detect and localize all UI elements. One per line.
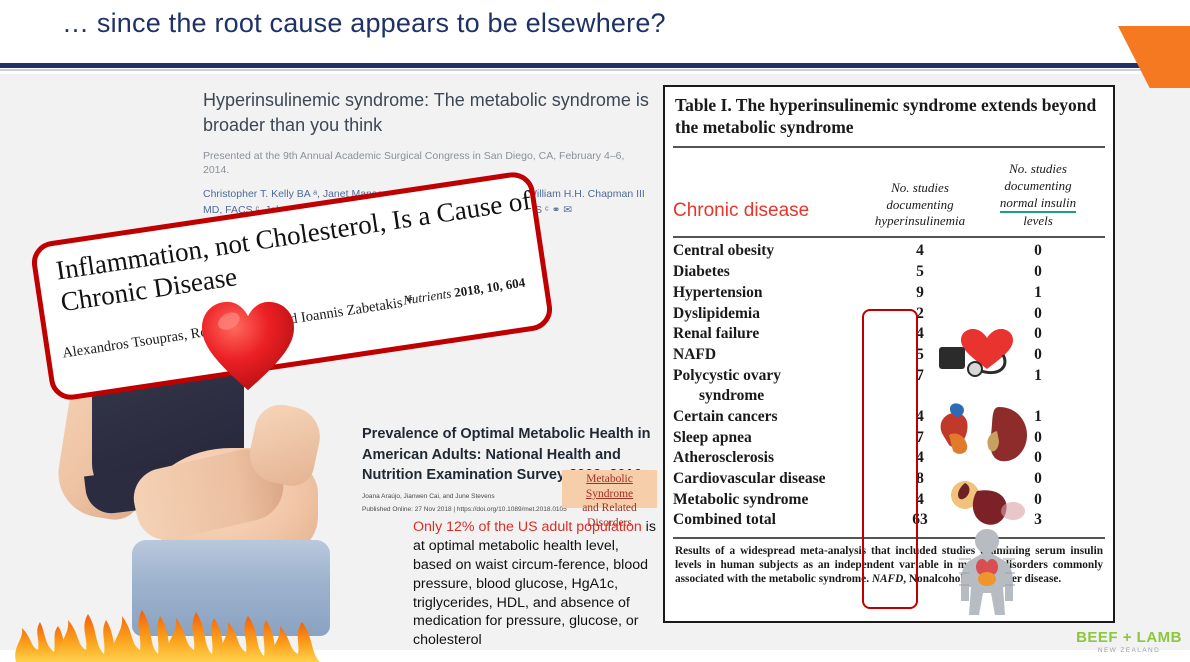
table-row: Dyslipidemia20 xyxy=(673,303,1105,324)
table-cell-hyperinsulinemia: 4 xyxy=(861,489,979,510)
table-cell-disease: Certain cancers xyxy=(673,406,861,427)
page-title: … since the root cause appears to be els… xyxy=(62,8,666,39)
table-cell-hyperinsulinemia: 7 xyxy=(861,365,979,386)
table-cell-normal-insulin: 0 xyxy=(979,241,1097,262)
callout-citation: Nutrients 2018, 10, 604 xyxy=(402,275,526,309)
beef-lamb-logo: BEEF + LAMB NEW ZEALAND xyxy=(1076,629,1182,654)
table-cell-normal-insulin: 0 xyxy=(979,448,1097,469)
table-cell-normal-insulin: 1 xyxy=(979,365,1097,386)
table-cell-hyperinsulinemia: 5 xyxy=(861,344,979,365)
table-row: Sleep apnea70 xyxy=(673,427,1105,448)
table-cell-hyperinsulinemia: 63 xyxy=(861,510,979,531)
slide-canvas: … since the root cause appears to be els… xyxy=(0,0,1190,662)
table-cell-disease: syndrome xyxy=(673,386,879,407)
summary-paragraph: Only 12% of the US adult population is a… xyxy=(413,518,661,650)
header-divider xyxy=(0,63,1155,68)
th-norm-l2: documenting xyxy=(979,178,1097,195)
table-row: Atherosclerosis40 xyxy=(673,448,1105,469)
table-header-disease: Chronic disease xyxy=(673,199,861,231)
table-row: Central obesity40 xyxy=(673,241,1105,262)
table-row: Renal failure40 xyxy=(673,324,1105,345)
th-norm-l3-underlined: normal insulin xyxy=(1000,195,1076,214)
table-row: Cardiovascular disease80 xyxy=(673,468,1105,489)
table-row: Metabolic syndrome40 xyxy=(673,489,1105,510)
table-cell-disease: Central obesity xyxy=(673,241,861,262)
table-cell-disease: Diabetes xyxy=(673,262,861,283)
table-header-normal-insulin: No. studies documenting normal insulin l… xyxy=(979,161,1097,231)
logo-main-text: BEEF + LAMB xyxy=(1076,629,1182,646)
table-caption-label: Table I. xyxy=(675,95,732,115)
journal-badge-line1: Metabolic Syndrome xyxy=(565,472,654,501)
table-cell-hyperinsulinemia: 4 xyxy=(861,406,979,427)
th-hyper-l3: hyperinsulinemia xyxy=(861,213,979,230)
table-cell-hyperinsulinemia: 4 xyxy=(861,324,979,345)
table-row: Polycystic ovary71 xyxy=(673,365,1105,386)
table-cell-normal-insulin: 0 xyxy=(979,489,1097,510)
summary-body: is at optimal metabolic health level, ba… xyxy=(413,519,656,648)
table-cell-hyperinsulinemia: 4 xyxy=(861,448,979,469)
journal-badge-metabolic-syndrome: Metabolic Syndrome and Related Disorders xyxy=(562,470,657,508)
table-row: NAFD50 xyxy=(673,344,1105,365)
header-divider-secondary xyxy=(0,69,1155,71)
table-cell-disease: Hypertension xyxy=(673,282,861,303)
table-cell-normal-insulin: 1 xyxy=(979,282,1097,303)
table-footnote-abbr-rest: , Nonalcoholic fatty liver disease. xyxy=(903,573,1061,585)
table-row: Certain cancers41 xyxy=(673,406,1105,427)
th-norm-l4: levels xyxy=(979,213,1097,230)
table-cell-hyperinsulinemia: 2 xyxy=(861,303,979,324)
table-cell-hyperinsulinemia: 8 xyxy=(861,468,979,489)
article-surgery-title: Hyperinsulinemic syndrome: The metabolic… xyxy=(203,88,653,138)
callout-citation-rest: 2018, 10, 604 xyxy=(453,275,526,300)
heart-icon xyxy=(200,300,296,392)
table-cell-hyperinsulinemia xyxy=(879,395,992,400)
table-caption-text: The hyperinsulinemic syndrome extends be… xyxy=(675,95,1096,137)
th-hyper-l1: No. studies xyxy=(861,180,979,197)
table-cell-normal-insulin xyxy=(992,395,1105,400)
th-norm-l3: normal insulin xyxy=(979,195,1097,214)
table-caption: Table I. The hyperinsulinemic syndrome e… xyxy=(665,87,1113,140)
flames-icon xyxy=(10,586,328,662)
table-cell-normal-insulin: 0 xyxy=(979,303,1097,324)
article-surgery-note: Presented at the 9th Annual Academic Sur… xyxy=(203,149,653,177)
table-cell-normal-insulin: 0 xyxy=(979,324,1097,345)
table-cell-normal-insulin: 0 xyxy=(979,344,1097,365)
table-cell-normal-insulin: 0 xyxy=(979,468,1097,489)
table-cell-normal-insulin: 3 xyxy=(979,510,1097,531)
table-cell-disease: Polycystic ovary xyxy=(673,365,861,386)
table-row: Hypertension91 xyxy=(673,282,1105,303)
table-cell-disease: Renal failure xyxy=(673,324,861,345)
table-hyperinsulinemic-syndrome: Table I. The hyperinsulinemic syndrome e… xyxy=(663,85,1115,623)
table-header-row: Chronic disease No. studies documenting … xyxy=(665,148,1113,232)
table-cell-hyperinsulinemia: 5 xyxy=(861,262,979,283)
table-body: Central obesity40Diabetes50Hypertension9… xyxy=(665,238,1113,531)
table-row: Combined total633 xyxy=(673,510,1105,531)
table-cell-normal-insulin: 0 xyxy=(979,262,1097,283)
table-footnote: Results of a widespread meta-analysis th… xyxy=(665,539,1113,591)
table-cell-normal-insulin: 0 xyxy=(979,427,1097,448)
table-cell-disease: Cardiovascular disease xyxy=(673,468,861,489)
table-cell-disease: Combined total xyxy=(673,510,861,531)
table-cell-hyperinsulinemia: 9 xyxy=(861,282,979,303)
table-cell-hyperinsulinemia: 4 xyxy=(861,241,979,262)
table-cell-hyperinsulinemia: 7 xyxy=(861,427,979,448)
table-cell-disease: Metabolic syndrome xyxy=(673,489,861,510)
table-row: syndrome xyxy=(673,386,1105,407)
table-row: Diabetes50 xyxy=(673,262,1105,283)
table-cell-disease: Atherosclerosis xyxy=(673,448,861,469)
table-cell-disease: Dyslipidemia xyxy=(673,303,861,324)
table-footnote-abbr: NAFD xyxy=(872,573,903,585)
table-cell-disease: Sleep apnea xyxy=(673,427,861,448)
table-header-hyperinsulinemia: No. studies documenting hyperinsulinemia xyxy=(861,180,979,231)
th-hyper-l2: documenting xyxy=(861,197,979,214)
logo-sub-text: NEW ZEALAND xyxy=(1076,647,1182,654)
table-cell-normal-insulin: 1 xyxy=(979,406,1097,427)
th-norm-l1: No. studies xyxy=(979,161,1097,178)
summary-highlight: Only 12% of the US adult population xyxy=(413,519,642,535)
table-cell-disease: NAFD xyxy=(673,344,861,365)
